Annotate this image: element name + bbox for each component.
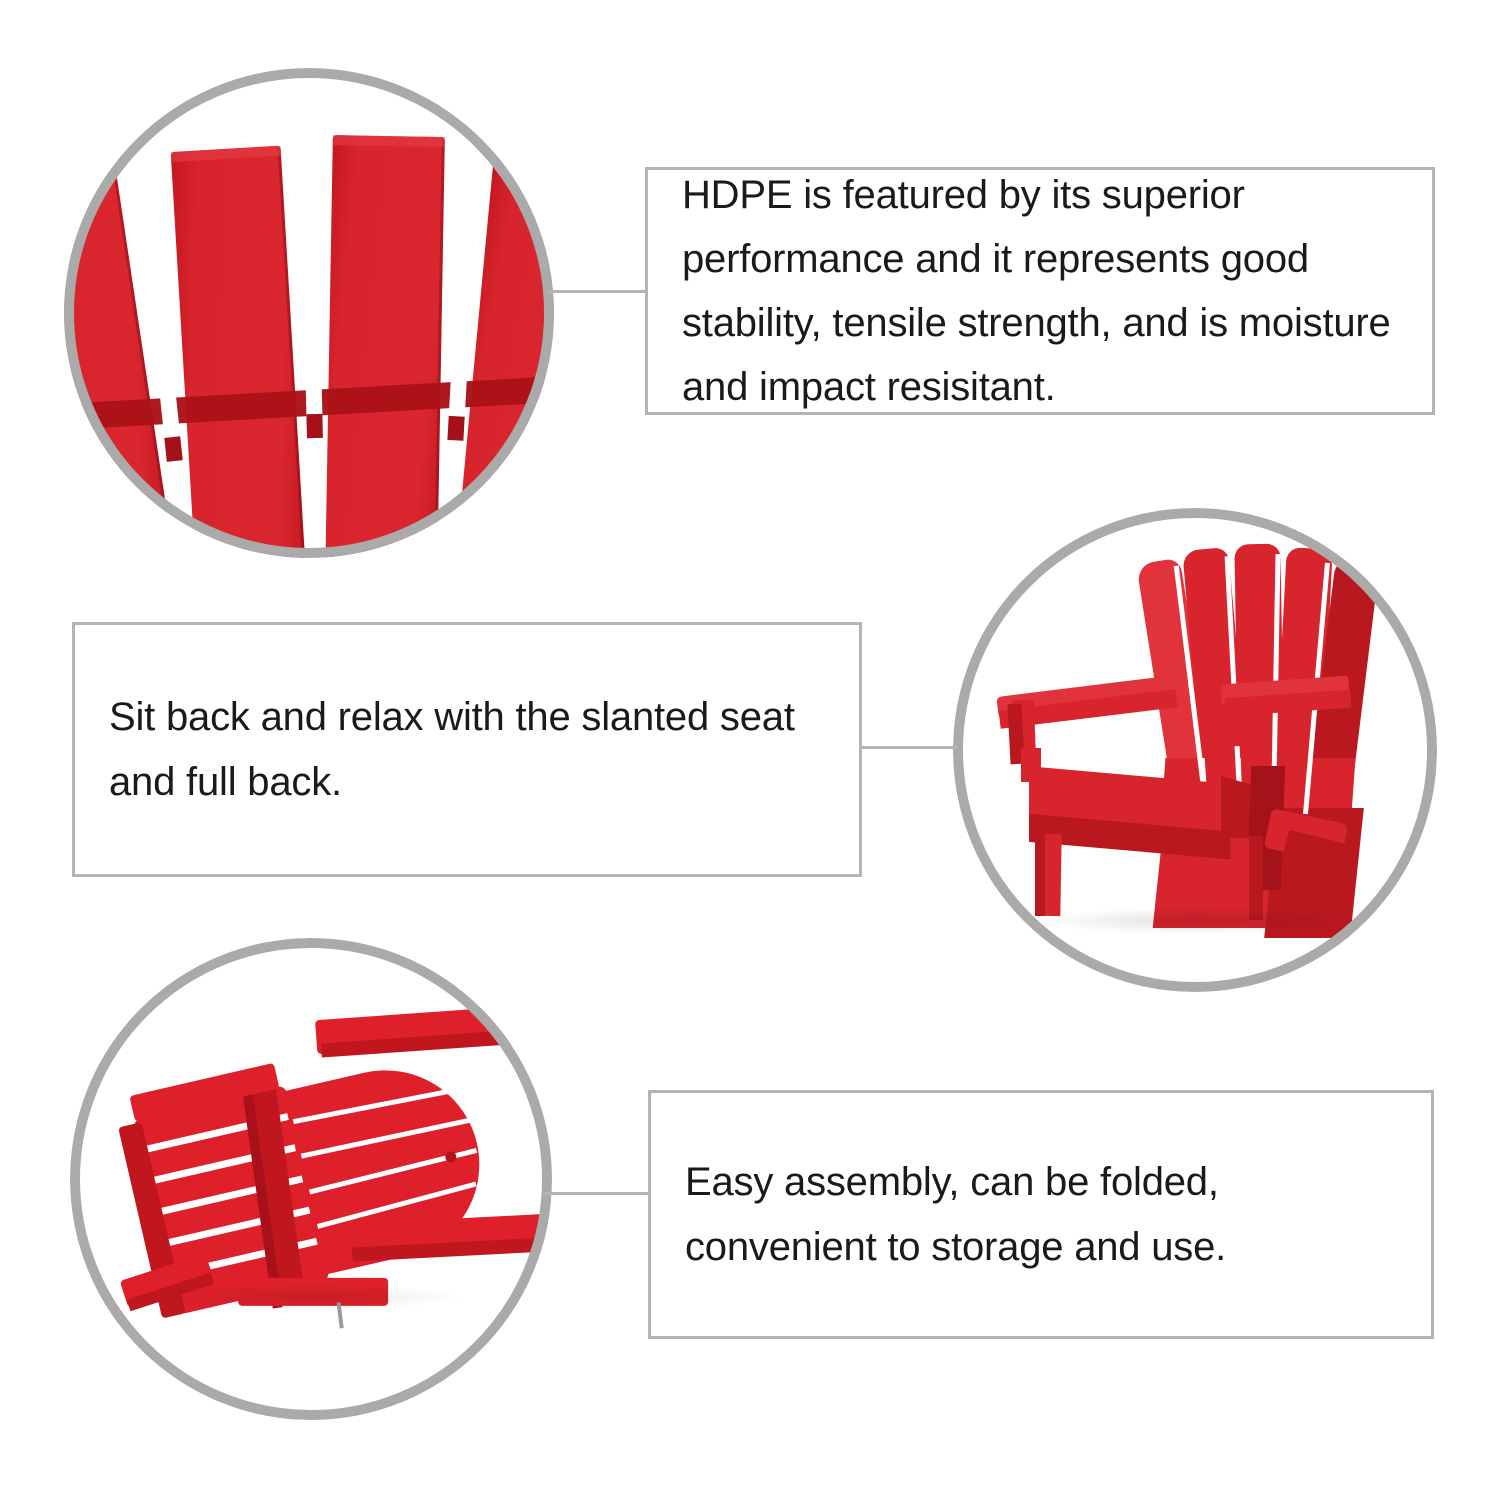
chair-ground-shadow [1039, 908, 1349, 934]
folded-assembly [89, 993, 546, 1375]
slats-closeup-image [64, 68, 554, 558]
slat-gap-layer [64, 124, 554, 558]
chair-arm-support-right [1226, 698, 1254, 747]
slat-gap-3 [436, 130, 481, 558]
connector-line-slats-to-hdpe-text [548, 290, 648, 293]
chair-leg-front-left-shadow [1035, 834, 1045, 916]
slat-gap-2 [299, 130, 328, 558]
callout-box-hdpe: HDPE is featured by its superior perform… [645, 167, 1435, 415]
chair-leg-rear [1249, 836, 1263, 920]
photo-circle-chair [953, 508, 1437, 992]
assembled-chair-image [953, 508, 1437, 992]
folded-ground-shadow [162, 1284, 462, 1310]
callout-box-slanted-seat: Sit back and relax with the slanted seat… [72, 622, 862, 877]
photo-circle-slats [64, 68, 554, 558]
callout-text-easy-assembly: Easy assembly, can be folded, convenient… [685, 1150, 1397, 1280]
callout-box-easy-assembly: Easy assembly, can be folded, convenient… [648, 1090, 1434, 1339]
infographic-canvas: HDPE is featured by its superior perform… [0, 0, 1500, 1500]
photo-circle-folded [70, 938, 552, 1420]
slat-gap-1 [134, 146, 202, 558]
connector-line-slanted-text-to-chair [858, 746, 958, 749]
connector-line-folded-to-folding-text [545, 1192, 651, 1195]
callout-text-hdpe: HDPE is featured by its superior perform… [682, 163, 1398, 419]
folded-chair-image [70, 938, 552, 1420]
callout-text-slanted-seat: Sit back and relax with the slanted seat… [109, 685, 825, 815]
